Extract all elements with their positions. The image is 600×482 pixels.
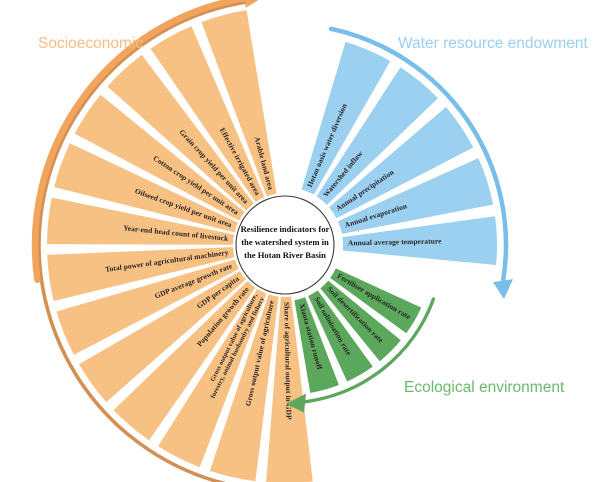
center-title-line-2: the watershed system in [241, 237, 329, 247]
resilience-indicator-wheel: Share of agricultural output in GDPGross… [0, 0, 600, 482]
category-title-water-resource: Water resource endowment [398, 35, 589, 52]
center-hub: Resilience indicators for the watershed … [236, 196, 334, 294]
center-title-line-1: Resilience indicators for [241, 224, 330, 234]
center-title-line-3: the Hotan River Basin [244, 250, 326, 260]
water-resource-group: Hotan oasis water diversionWatershed inf… [302, 29, 513, 299]
socioeconomic-arrowhead [246, 0, 264, 8]
water-resource-arrowhead [493, 279, 513, 299]
category-title-ecological: Ecological environment [404, 379, 565, 396]
category-title-socioeconomic: Socioeconomic [38, 35, 143, 52]
